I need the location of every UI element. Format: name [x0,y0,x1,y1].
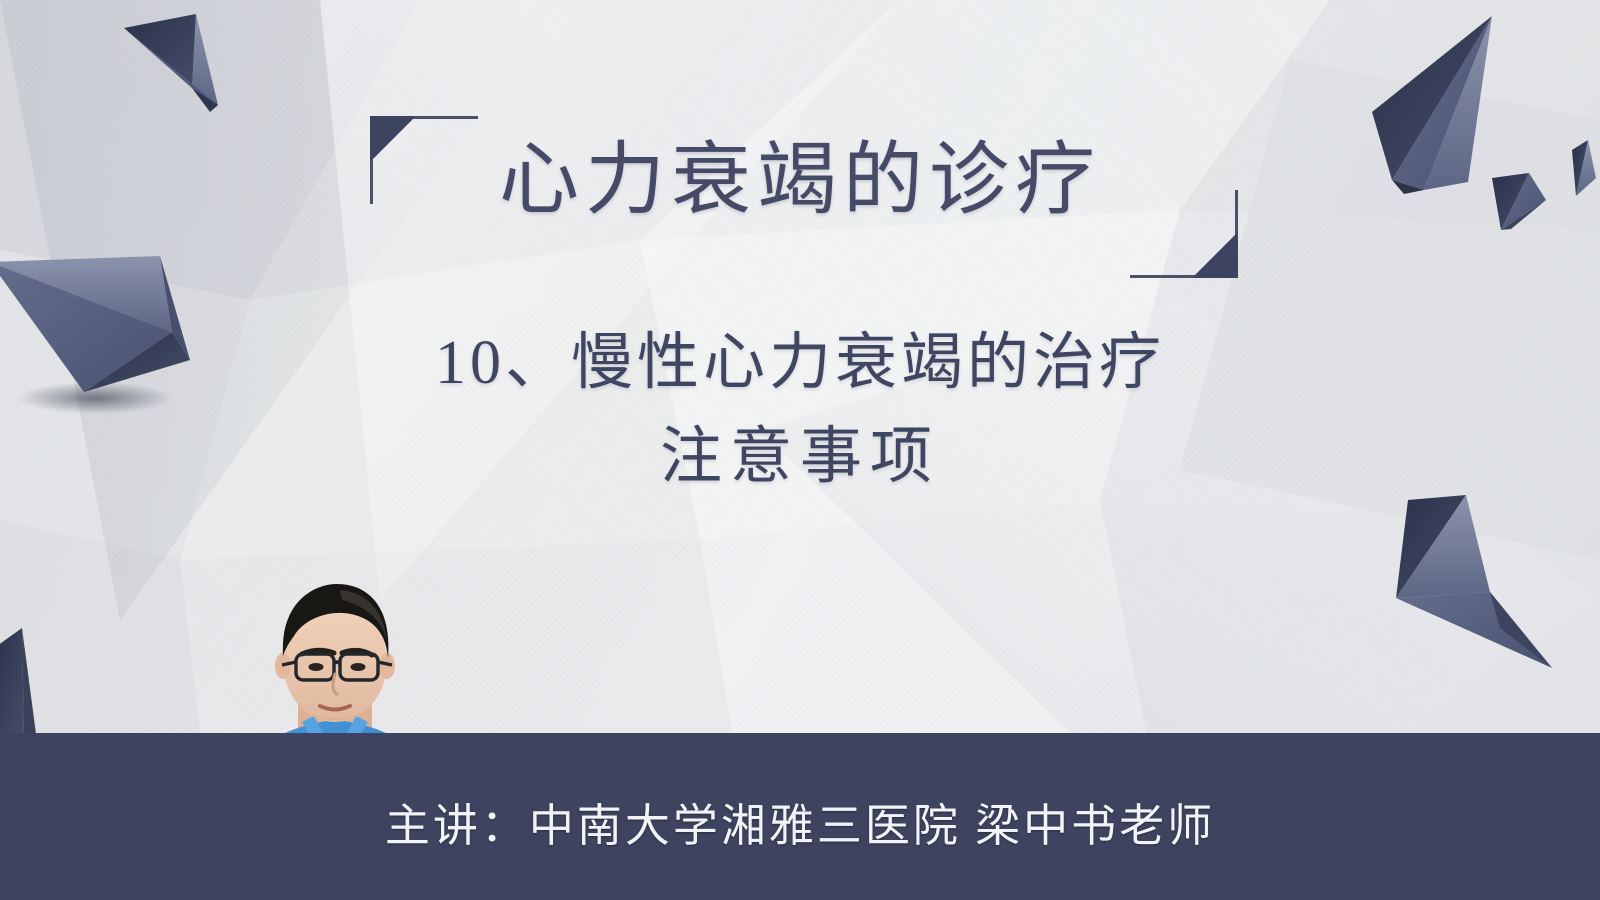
slide-canvas: 心力衰竭的诊疗 10、慢性心力衰竭的治疗 注意事项 [0,0,1600,900]
crystal-left-sliver [0,628,36,738]
page-title: 心力衰竭的诊疗 [350,134,1250,228]
footer-bar: 主讲：中南大学湘雅三医院 梁中书老师 [0,733,1600,900]
subtitle-line-2: 注意事项 [0,410,1600,504]
subtitle-block: 10、慢性心力衰竭的治疗 注意事项 [0,316,1600,504]
crystal-bottom-right [1396,495,1552,668]
corner-bracket-bottom-right-icon [1130,190,1250,290]
crystal-top-left [124,14,218,112]
crystal-top-right [1372,16,1492,194]
crystal-right-kite [1492,173,1546,230]
subtitle-line-1: 10、慢性心力衰竭的治疗 [0,316,1600,410]
title-block: 心力衰竭的诊疗 [350,100,1250,290]
presenter-credit: 主讲：中南大学湘雅三医院 梁中书老师 [0,789,1600,854]
crystal-right-dart [1572,140,1596,196]
